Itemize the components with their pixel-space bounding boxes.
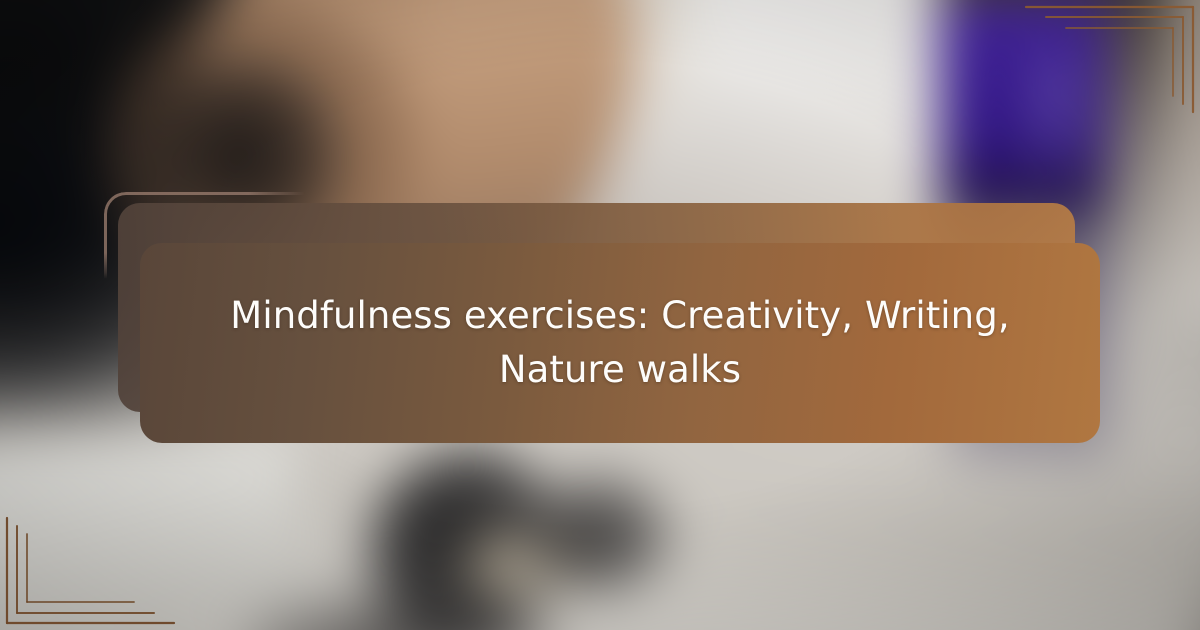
page-title: Mindfulness exercises: Creativity, Writi… bbox=[226, 289, 1014, 398]
poster-canvas: Mindfulness exercises: Creativity, Writi… bbox=[0, 0, 1200, 630]
title-card: Mindfulness exercises: Creativity, Writi… bbox=[140, 243, 1100, 443]
